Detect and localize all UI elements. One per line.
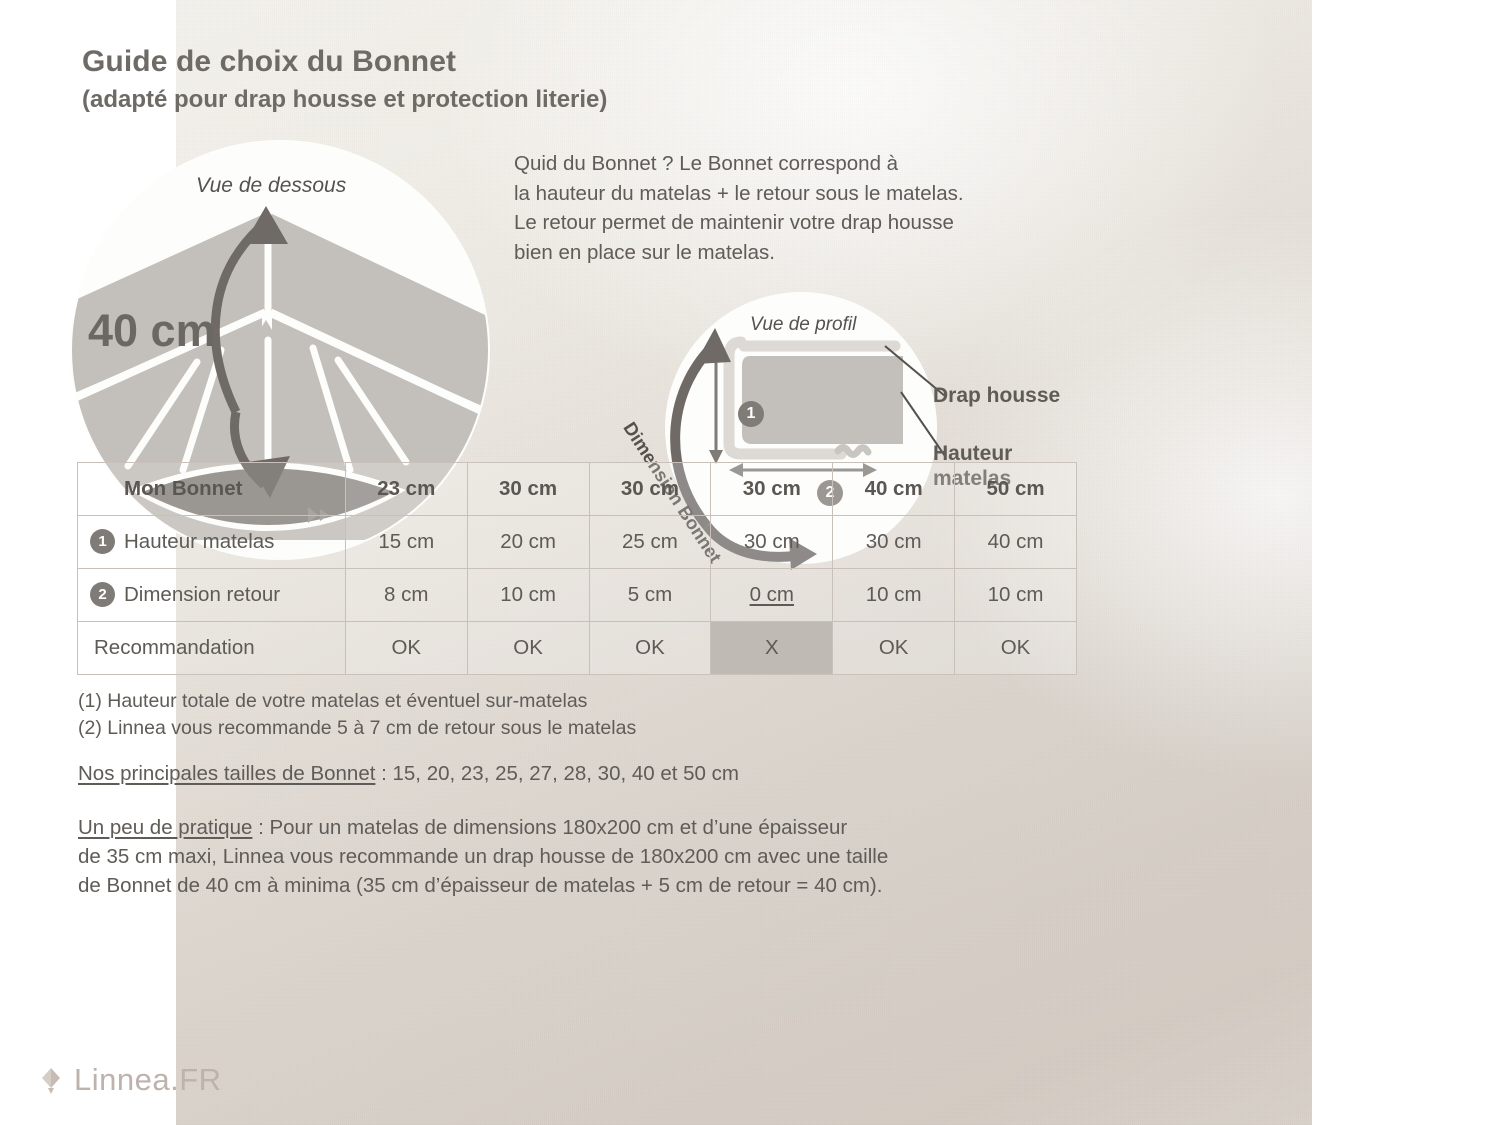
table-cell: 8 cm <box>345 569 467 622</box>
intro-line-3: Le retour permet de maintenir votre drap… <box>514 208 1114 238</box>
badge-1-icon: 1 <box>90 529 115 554</box>
table-cell: 10 cm <box>955 569 1077 622</box>
practice-line-3: de Bonnet de 40 cm à minima (35 cm d’épa… <box>78 871 1088 900</box>
footnote-1: (1) Hauteur totale de votre matelas et é… <box>78 688 1058 715</box>
footnote-2: (2) Linnea vous recommande 5 à 7 cm de r… <box>78 715 1058 742</box>
badge-1-icon: 1 <box>738 401 764 427</box>
table-cell: OK <box>589 622 711 675</box>
table-header-cell: 23 cm <box>345 463 467 516</box>
row-label-text: Hauteur matelas <box>124 530 274 553</box>
table-cell-highlighted: 0 cm <box>711 569 833 622</box>
table-cell: 10 cm <box>467 569 589 622</box>
linnea-mark-icon <box>38 1065 64 1095</box>
main-sizes-line: Nos principales tailles de Bonnet : 15, … <box>78 762 1058 786</box>
table-cell-not-recommended: X <box>711 622 833 675</box>
table-cell: 30 cm <box>833 516 955 569</box>
bonnet-size-table: Mon Bonnet 23 cm 30 cm 30 cm 30 cm 40 cm… <box>77 462 1077 675</box>
main-sizes-label: Nos principales tailles de Bonnet <box>78 762 375 785</box>
table-cell: 10 cm <box>833 569 955 622</box>
table-row: 1 Hauteur matelas 15 cm 20 cm 25 cm 30 c… <box>78 516 1077 569</box>
table-cell: 25 cm <box>589 516 711 569</box>
intro-paragraph: Quid du Bonnet ? Le Bonnet correspond à … <box>514 149 1114 267</box>
table-header-cell: 30 cm <box>467 463 589 516</box>
page-title: Guide de choix du Bonnet (adapté pour dr… <box>82 44 842 115</box>
row-label-dimension-retour: 2 Dimension retour <box>78 569 346 622</box>
table-cell: OK <box>833 622 955 675</box>
row-label-hauteur-matelas: 1 Hauteur matelas <box>78 516 346 569</box>
table-header-row: Mon Bonnet 23 cm 30 cm 30 cm 30 cm 40 cm… <box>78 463 1077 516</box>
table-row: 2 Dimension retour 8 cm 10 cm 5 cm 0 cm … <box>78 569 1077 622</box>
intro-line-4: bien en place sur le matelas. <box>514 238 1114 268</box>
table-cell: 20 cm <box>467 516 589 569</box>
badge-2-icon: 2 <box>90 582 115 607</box>
practice-line-1: : Pour un matelas de dimensions 180x200 … <box>252 816 847 839</box>
practice-block: Un peu de pratique : Pour un matelas de … <box>78 813 1088 900</box>
table-cell-underlined-value: 0 cm <box>750 583 794 606</box>
table-header-cell: 30 cm <box>711 463 833 516</box>
bottom-view-label: Vue de dessous <box>196 174 346 198</box>
table-header-label: Mon Bonnet <box>78 463 346 516</box>
practice-line-2: de 35 cm maxi, Linnea vous recommande un… <box>78 842 1088 871</box>
screenshot-root: Guide de choix du Bonnet (adapté pour dr… <box>0 0 1500 1125</box>
title-line-1: Guide de choix du Bonnet <box>82 44 842 81</box>
row-label-text: Dimension retour <box>124 583 280 606</box>
table-cell: 30 cm <box>711 516 833 569</box>
callout-drap-housse: Drap housse <box>933 383 1060 408</box>
table-cell: 5 cm <box>589 569 711 622</box>
table-cell: 40 cm <box>955 516 1077 569</box>
intro-line-1: Quid du Bonnet ? Le Bonnet correspond à <box>514 149 1114 179</box>
title-line-2: (adapté pour drap housse et protection l… <box>82 85 842 115</box>
table-header-cell: 40 cm <box>833 463 955 516</box>
table-row: Recommandation OK OK OK X OK OK <box>78 622 1077 675</box>
row-label-recommandation: Recommandation <box>78 622 346 675</box>
table-header-cell: 30 cm <box>589 463 711 516</box>
profile-view-label: Vue de profil <box>750 314 856 336</box>
table-cell: 15 cm <box>345 516 467 569</box>
footnotes: (1) Hauteur totale de votre matelas et é… <box>78 688 1058 742</box>
linnea-logo[interactable]: Linnea.FR <box>38 1062 222 1098</box>
table-header-cell: 50 cm <box>955 463 1077 516</box>
intro-line-2: la hauteur du matelas + le retour sous l… <box>514 179 1114 209</box>
main-sizes-text: : 15, 20, 23, 25, 27, 28, 30, 40 et 50 c… <box>375 762 739 785</box>
table-cell: OK <box>467 622 589 675</box>
linnea-logo-text: Linnea.FR <box>74 1062 222 1098</box>
table-cell: OK <box>345 622 467 675</box>
bottom-view-measure: 40 cm <box>88 305 216 357</box>
practice-label: Un peu de pratique <box>78 816 252 839</box>
table-cell: OK <box>955 622 1077 675</box>
